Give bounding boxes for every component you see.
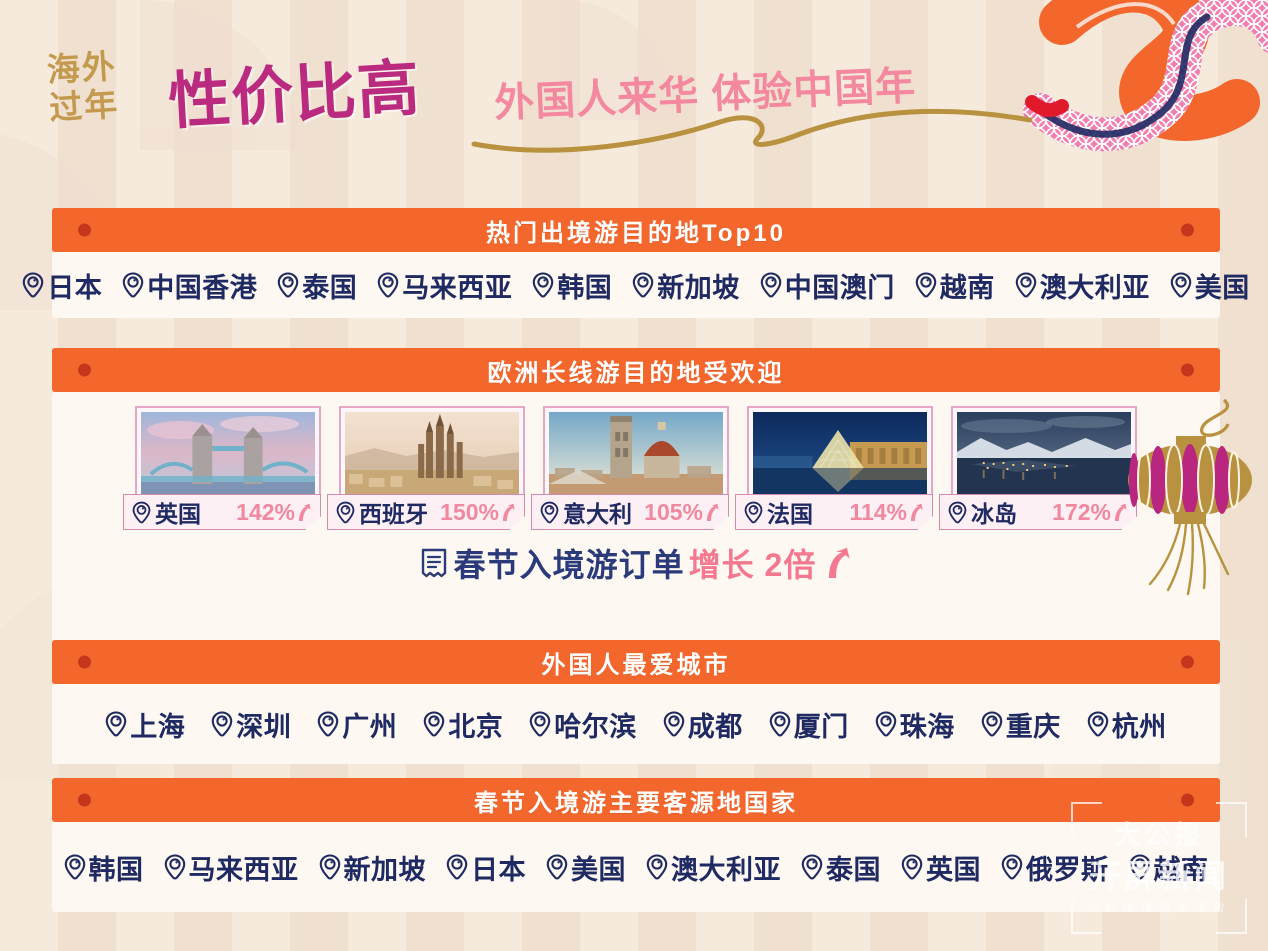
- list-item[interactable]: 澳大利亚: [1015, 266, 1150, 305]
- list-item-label: 哈尔滨: [554, 705, 637, 744]
- country-list: 韩国 马来西亚 新加坡 日本 美国 澳大利亚 泰国 英国 俄罗斯 越南: [52, 822, 1220, 912]
- infographic-page: 海外 过年 性价比高 外国人来华 体验中国年 热门出境游目的地Top10 日本: [0, 0, 1268, 951]
- list-item-label: 广州: [342, 705, 397, 744]
- list-item[interactable]: 深圳: [211, 705, 291, 744]
- location-pin-icon: [529, 711, 551, 737]
- location-pin-icon: [981, 711, 1003, 737]
- location-pin-icon: [632, 272, 654, 298]
- header-kicker: 海外 过年: [46, 44, 168, 127]
- list-item[interactable]: 北京: [423, 705, 503, 744]
- section-header-bar: 外国人最爱城市: [52, 640, 1220, 684]
- section-header-bar: 热门出境游目的地Top10: [52, 208, 1220, 252]
- card-photo-frame: [135, 406, 321, 504]
- card-name: 英国: [155, 495, 201, 529]
- card-caption: 西班牙 150%: [327, 494, 525, 530]
- section-title: 热门出境游目的地Top10: [486, 213, 786, 248]
- location-pin-icon: [132, 501, 151, 524]
- location-pin-icon: [1015, 272, 1037, 298]
- list-item-label: 泰国: [302, 266, 357, 305]
- watermark-line2: 开屏新闻: [1068, 851, 1250, 897]
- location-pin-icon: [744, 501, 763, 524]
- growth-prefix: 春节入境游订单: [454, 540, 685, 586]
- card-percent: 142%: [236, 499, 312, 526]
- destination-card[interactable]: 意大利 105%: [543, 406, 729, 530]
- destination-list: 日本 中国香港 泰国 马来西亚 韩国 新加坡 中国澳门 越南 澳大利亚 美国: [52, 252, 1220, 318]
- section-body: 日本 中国香港 泰国 马来西亚 韩国 新加坡 中国澳门 越南 澳大利亚 美国: [52, 252, 1220, 318]
- list-item-label: 英国: [926, 848, 981, 887]
- card-percent-value: 142%: [236, 499, 295, 526]
- section-title: 春节入境游主要客源地国家: [474, 783, 798, 818]
- list-item-label: 成都: [688, 705, 743, 744]
- location-pin-icon: [446, 854, 468, 880]
- list-item-label: 深圳: [236, 705, 291, 744]
- location-pin-icon: [769, 711, 791, 737]
- list-item-label: 重庆: [1006, 705, 1061, 744]
- location-pin-icon: [22, 272, 44, 298]
- card-photo-frame: [543, 406, 729, 504]
- section-europe-long-haul: 欧洲长线游目的地受欢迎: [52, 348, 1220, 666]
- card-percent: 172%: [1052, 499, 1128, 526]
- arrow-up-icon: [1113, 503, 1128, 522]
- location-pin-icon: [663, 711, 685, 737]
- destination-card[interactable]: 法国 114%: [747, 406, 933, 530]
- list-item[interactable]: 广州: [317, 705, 397, 744]
- europe-card-list: 英国 142%: [52, 392, 1220, 530]
- list-item-label: 杭州: [1112, 705, 1167, 744]
- list-item[interactable]: 哈尔滨: [529, 705, 637, 744]
- location-pin-icon: [64, 854, 86, 880]
- paris-louvre-pyramid-photo: [753, 412, 927, 498]
- card-name: 冰岛: [971, 495, 1017, 529]
- list-item-label: 新加坡: [657, 266, 740, 305]
- list-item-label: 美国: [1195, 266, 1250, 305]
- list-item[interactable]: 珠海: [875, 705, 955, 744]
- section-header-bar: 春节入境游主要客源地国家: [52, 778, 1220, 822]
- list-item-label: 澳大利亚: [1040, 266, 1150, 305]
- london-tower-bridge-photo: [141, 412, 315, 498]
- list-item-label: 厦门: [794, 705, 849, 744]
- section-outbound-top10: 热门出境游目的地Top10 日本 中国香港 泰国 马来西亚 韩国 新加坡 中国澳…: [52, 208, 1220, 318]
- chinese-lantern-icon: [1128, 398, 1268, 648]
- card-name: 法国: [767, 495, 813, 529]
- card-caption: 冰岛 172%: [939, 494, 1137, 530]
- list-item[interactable]: 泰国: [277, 266, 357, 305]
- location-pin-icon: [760, 272, 782, 298]
- list-item[interactable]: 韩国: [532, 266, 612, 305]
- bar-dot-right: [1181, 364, 1194, 377]
- florence-duomo-photo: [549, 412, 723, 498]
- location-pin-icon: [532, 272, 554, 298]
- list-item[interactable]: 越南: [915, 266, 995, 305]
- list-item[interactable]: 重庆: [981, 705, 1061, 744]
- card-percent: 150%: [440, 499, 516, 526]
- card-percent: 114%: [849, 499, 924, 526]
- receipt-icon: [420, 548, 448, 578]
- header: 海外 过年 性价比高 外国人来华 体验中国年: [0, 0, 1268, 180]
- inbound-growth-statement: 春节入境游订单 增长 2倍: [52, 530, 1220, 602]
- location-pin-icon: [1170, 272, 1192, 298]
- list-item[interactable]: 上海: [105, 705, 185, 744]
- list-item-label: 美国: [571, 848, 626, 887]
- card-caption: 英国 142%: [123, 494, 321, 530]
- card-percent-value: 172%: [1052, 499, 1111, 526]
- arrow-up-icon: [909, 503, 924, 522]
- watermark-line3: 公共传播服务平台: [1068, 898, 1250, 915]
- list-item[interactable]: 杭州: [1087, 705, 1167, 744]
- watermark: 大公报 开屏新闻 公共传播服务平台: [1068, 799, 1250, 937]
- list-item-label: 珠海: [900, 705, 955, 744]
- list-item-label: 日本: [47, 266, 102, 305]
- bar-dot-left: [78, 794, 91, 807]
- location-pin-icon: [646, 854, 668, 880]
- list-item-label: 澳大利亚: [671, 848, 781, 887]
- section-header-bar: 欧洲长线游目的地受欢迎: [52, 348, 1220, 392]
- location-pin-icon: [211, 711, 233, 737]
- list-item[interactable]: 马来西亚: [377, 266, 512, 305]
- list-item[interactable]: 澳大利亚: [646, 848, 781, 887]
- location-pin-icon: [915, 272, 937, 298]
- location-pin-icon: [1087, 711, 1109, 737]
- card-photo-frame: [339, 406, 525, 504]
- card-photo-frame: [747, 406, 933, 504]
- list-item[interactable]: 美国: [546, 848, 626, 887]
- list-item[interactable]: 美国: [1170, 266, 1250, 305]
- card-name: 意大利: [563, 495, 632, 529]
- location-pin-icon: [1001, 854, 1023, 880]
- list-item-label: 越南: [940, 266, 995, 305]
- location-pin-icon: [377, 272, 399, 298]
- card-caption: 意大利 105%: [531, 494, 729, 530]
- list-item[interactable]: 日本: [22, 266, 102, 305]
- list-item-label: 马来西亚: [189, 848, 299, 887]
- watermark-line1: 大公报: [1068, 815, 1250, 852]
- barcelona-sagrada-familia-photo: [345, 412, 519, 498]
- section-body: 上海 深圳 广州 北京 哈尔滨 成都 厦门 珠海 重庆 杭州: [52, 684, 1220, 764]
- section-body: 英国 142%: [52, 392, 1220, 666]
- destination-card[interactable]: 英国 142%: [135, 406, 321, 530]
- location-pin-icon: [277, 272, 299, 298]
- list-item-label: 中国香港: [147, 266, 257, 305]
- location-pin-icon: [801, 854, 823, 880]
- list-item[interactable]: 韩国: [64, 848, 144, 887]
- city-list: 上海 深圳 广州 北京 哈尔滨 成都 厦门 珠海 重庆 杭州: [52, 684, 1220, 764]
- list-item[interactable]: 马来西亚: [164, 848, 299, 887]
- bar-dot-left: [78, 656, 91, 669]
- card-percent-value: 114%: [849, 499, 907, 526]
- list-item[interactable]: 中国香港: [122, 266, 257, 305]
- arrow-up-icon: [705, 503, 720, 522]
- list-item[interactable]: 新加坡: [319, 848, 427, 887]
- list-item-label: 韩国: [557, 266, 612, 305]
- location-pin-icon: [875, 711, 897, 737]
- bar-dot-right: [1181, 224, 1194, 237]
- list-item[interactable]: 新加坡: [632, 266, 740, 305]
- list-item-label: 上海: [130, 705, 185, 744]
- section-inbound-source-countries: 春节入境游主要客源地国家 韩国 马来西亚 新加坡 日本 美国 澳大利亚 泰国 英…: [52, 778, 1220, 912]
- list-item[interactable]: 英国: [901, 848, 981, 887]
- location-pin-icon: [901, 854, 923, 880]
- location-pin-icon: [423, 711, 445, 737]
- location-pin-icon: [105, 711, 127, 737]
- section-title: 外国人最爱城市: [542, 645, 731, 680]
- card-name: 西班牙: [359, 495, 428, 529]
- section-favorite-cities: 外国人最爱城市 上海 深圳 广州 北京 哈尔滨 成都 厦门 珠海 重庆 杭州: [52, 640, 1220, 764]
- location-pin-icon: [546, 854, 568, 880]
- section-title: 欧洲长线游目的地受欢迎: [488, 353, 785, 388]
- list-item-label: 韩国: [89, 848, 144, 887]
- page-title: 性价比高: [166, 37, 423, 141]
- location-pin-icon: [948, 501, 967, 524]
- list-item-label: 中国澳门: [785, 266, 895, 305]
- location-pin-icon: [164, 854, 186, 880]
- list-item[interactable]: 成都: [663, 705, 743, 744]
- destination-card[interactable]: 西班牙 150%: [339, 406, 525, 530]
- location-pin-icon: [122, 272, 144, 298]
- list-item-label: 泰国: [826, 848, 881, 887]
- growth-highlight: 增长 2倍: [689, 540, 817, 586]
- bar-dot-left: [78, 364, 91, 377]
- list-item-label: 北京: [448, 705, 503, 744]
- location-pin-icon: [540, 501, 559, 524]
- list-item[interactable]: 中国澳门: [760, 266, 895, 305]
- list-item-label: 新加坡: [344, 848, 427, 887]
- card-percent: 105%: [644, 499, 720, 526]
- location-pin-icon: [319, 854, 341, 880]
- list-item[interactable]: 日本: [446, 848, 526, 887]
- destination-card[interactable]: 冰岛 172%: [951, 406, 1137, 530]
- bar-dot-right: [1181, 656, 1194, 669]
- location-pin-icon: [317, 711, 339, 737]
- list-item[interactable]: 泰国: [801, 848, 881, 887]
- list-item-label: 日本: [471, 848, 526, 887]
- header-kicker-line2: 过年: [48, 82, 168, 127]
- list-item-label: 马来西亚: [402, 266, 512, 305]
- section-body: 韩国 马来西亚 新加坡 日本 美国 澳大利亚 泰国 英国 俄罗斯 越南: [52, 822, 1220, 912]
- card-photo-frame: [951, 406, 1137, 504]
- arrow-up-icon: [501, 503, 516, 522]
- iceland-winter-town-photo: [957, 412, 1131, 498]
- arrow-up-icon: [297, 503, 312, 522]
- arrow-up-icon: [826, 547, 852, 579]
- list-item[interactable]: 厦门: [769, 705, 849, 744]
- card-percent-value: 150%: [440, 499, 499, 526]
- card-percent-value: 105%: [644, 499, 703, 526]
- location-pin-icon: [336, 501, 355, 524]
- bar-dot-left: [78, 224, 91, 237]
- card-caption: 法国 114%: [735, 494, 933, 530]
